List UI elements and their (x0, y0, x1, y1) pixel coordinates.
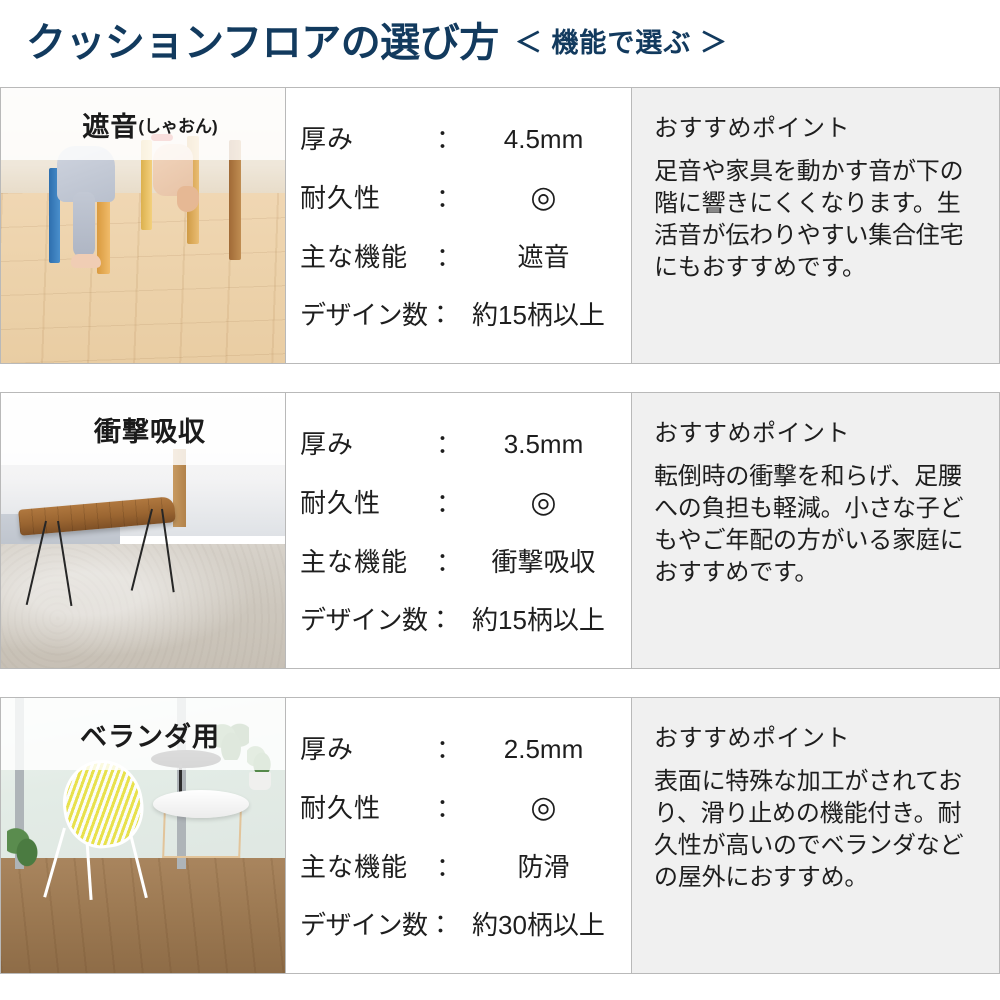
spec-row-design-count: デザイン数： 約15柄以上 (300, 606, 621, 635)
card-point-veranda: おすすめポイント 表面に特殊な加工がされており、滑り止めの機能付き。耐久性が高い… (631, 698, 999, 973)
spec-row-main-function: 主な機能 ： 衝撃吸収 (300, 548, 621, 577)
point-heading: おすすめポイント (654, 116, 981, 142)
spec-label-durability: 耐久性 (300, 489, 432, 518)
card-label-main: 遮音 (82, 105, 138, 144)
child-leg-icon (73, 192, 95, 258)
point-body: 表面に特殊な加工がされており、滑り止めの機能付き。耐久性が高いのでベランダなどの… (654, 766, 981, 894)
spec-value-durability: ◎ (466, 793, 621, 823)
point-heading: おすすめポイント (654, 726, 981, 752)
page-title: クッションフロアの選び方 (26, 23, 499, 63)
card-photo-shock-absorbing: 衝撃吸収 (1, 393, 285, 668)
spec-label-thickness: 厚み (300, 735, 432, 764)
spec-label-thickness: 厚み (300, 430, 432, 459)
card-specs-shock-absorbing: 厚み ： 3.5mm 耐久性 ： ◎ 主な機能 ： 衝撃吸収 デザイン数： 約1… (285, 393, 631, 668)
card-label-main: ベランダ用 (80, 715, 220, 754)
spec-colon: ： (432, 853, 466, 882)
spec-value-thickness: 4.5mm (466, 125, 621, 154)
plant-pot-icon (249, 772, 271, 790)
product-card-shaon[interactable]: 遮音 (しゃおん) 厚み ： 4.5mm 耐久性 ： ◎ 主な機能 ： 遮音 デ… (0, 87, 1000, 364)
coffee-table-icon (153, 790, 249, 818)
child-foot-icon (71, 254, 101, 268)
spec-value-design-count: 約15柄以上 (468, 606, 621, 635)
spec-row-main-function: 主な機能 ： 遮音 (300, 243, 621, 272)
spec-value-main-function: 衝撃吸収 (466, 548, 621, 577)
spec-row-thickness: 厚み ： 3.5mm (300, 430, 621, 459)
spec-value-design-count: 約15柄以上 (468, 301, 621, 330)
spec-label-durability: 耐久性 (300, 184, 432, 213)
spec-label-main-function: 主な機能 (300, 243, 432, 272)
point-heading: おすすめポイント (654, 421, 981, 447)
spec-colon: ： (432, 794, 466, 823)
card-specs-shaon: 厚み ： 4.5mm 耐久性 ： ◎ 主な機能 ： 遮音 デザイン数： 約15柄… (285, 88, 631, 363)
card-label-main: 衝撃吸収 (94, 410, 206, 449)
spec-value-design-count: 約30柄以上 (468, 911, 621, 940)
infographic-page: クッションフロアの選び方 ＜ 機能で選ぶ ＞ 遮音 ( (0, 0, 1000, 1000)
card-point-shock-absorbing: おすすめポイント 転倒時の衝撃を和らげ、足腰への負担も軽減。小さな子どもやご年配… (631, 393, 999, 668)
spec-colon: ： (432, 125, 466, 154)
spec-row-durability: 耐久性 ： ◎ (300, 183, 621, 213)
card-label-shock-absorbing: 衝撃吸収 (1, 393, 285, 465)
point-body: 転倒時の衝撃を和らげ、足腰への負担も軽減。小さな子どもやご年配の方がいる家庭にお… (654, 461, 981, 589)
spec-value-thickness: 3.5mm (466, 430, 621, 459)
spec-colon: ： (432, 489, 466, 518)
card-label-shaon: 遮音 (しゃおん) (1, 88, 285, 160)
spec-colon: ： (432, 243, 466, 272)
spec-label-design-count: デザイン数： (300, 911, 468, 940)
spec-label-design-count: デザイン数： (300, 606, 468, 635)
card-point-shaon: おすすめポイント 足音や家具を動かす音が下の階に響きにくくなります。生活音が伝わ… (631, 88, 999, 363)
spec-value-main-function: 防滑 (466, 853, 621, 882)
card-label-veranda: ベランダ用 (1, 698, 285, 770)
spec-row-main-function: 主な機能 ： 防滑 (300, 853, 621, 882)
plant-icon (7, 826, 47, 870)
spec-row-design-count: デザイン数： 約30柄以上 (300, 911, 621, 940)
card-label-kana: (しゃおん) (138, 112, 217, 137)
child-foot-icon (177, 186, 199, 212)
page-subtitle: ＜ 機能で選ぶ ＞ (515, 30, 728, 57)
spec-colon: ： (432, 735, 466, 764)
spec-row-durability: 耐久性 ： ◎ (300, 793, 621, 823)
spec-value-main-function: 遮音 (466, 243, 621, 272)
spec-value-durability: ◎ (466, 488, 621, 518)
spec-label-durability: 耐久性 (300, 794, 432, 823)
spec-colon: ： (432, 548, 466, 577)
spec-label-thickness: 厚み (300, 125, 432, 154)
spec-value-thickness: 2.5mm (466, 735, 621, 764)
spec-row-thickness: 厚み ： 2.5mm (300, 735, 621, 764)
spec-value-durability: ◎ (466, 183, 621, 213)
spec-label-main-function: 主な機能 (300, 853, 432, 882)
card-photo-shaon: 遮音 (しゃおん) (1, 88, 285, 363)
card-photo-veranda: ベランダ用 (1, 698, 285, 973)
spec-row-thickness: 厚み ： 4.5mm (300, 125, 621, 154)
spec-colon: ： (432, 430, 466, 459)
spec-row-durability: 耐久性 ： ◎ (300, 488, 621, 518)
page-header: クッションフロアの選び方 ＜ 機能で選ぶ ＞ (0, 0, 1000, 86)
point-body: 足音や家具を動かす音が下の階に響きにくくなります。生活音が伝わりやすい集合住宅に… (654, 156, 981, 284)
spec-label-main-function: 主な機能 (300, 548, 432, 577)
photo-floor (1, 858, 285, 974)
spec-colon: ： (432, 184, 466, 213)
photo-floor (1, 544, 285, 668)
product-card-shock-absorbing[interactable]: 衝撃吸収 厚み ： 3.5mm 耐久性 ： ◎ 主な機能 ： 衝撃吸収 デザイン… (0, 392, 1000, 669)
card-specs-veranda: 厚み ： 2.5mm 耐久性 ： ◎ 主な機能 ： 防滑 デザイン数： 約30柄… (285, 698, 631, 973)
product-card-veranda[interactable]: ベランダ用 厚み ： 2.5mm 耐久性 ： ◎ 主な機能 ： 防滑 デザイン数… (0, 697, 1000, 974)
spec-row-design-count: デザイン数： 約15柄以上 (300, 301, 621, 330)
spec-label-design-count: デザイン数： (300, 301, 468, 330)
